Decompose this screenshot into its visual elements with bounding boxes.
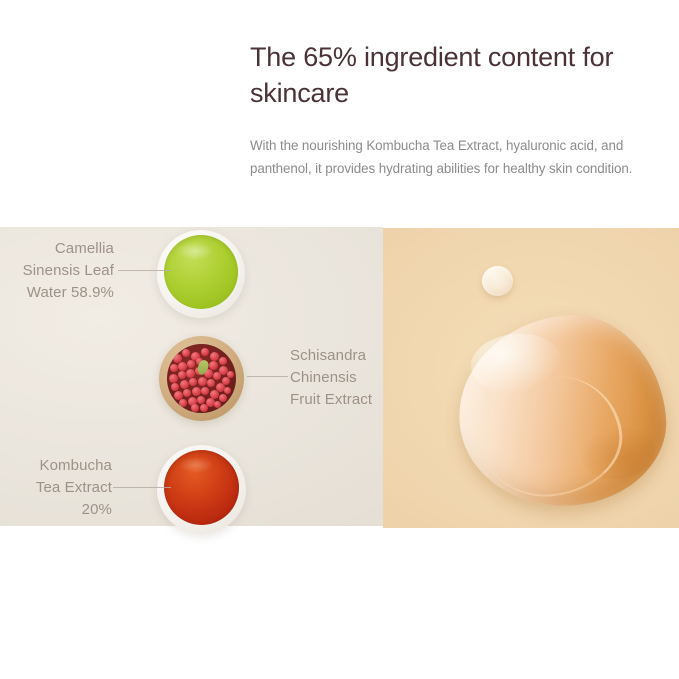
schisandra-berry-bed <box>167 344 236 413</box>
serum-blob-icon <box>451 307 673 514</box>
page-title: The 65% ingredient content for skincare <box>250 40 670 112</box>
ingredient-bowl-camellia <box>157 230 245 318</box>
ingredient-infographic: The 65% ingredient content for skincare … <box>0 0 679 679</box>
kombucha-sheen <box>179 457 213 473</box>
ingredient-bowl-schisandra <box>159 336 244 421</box>
page-description: With the nourishing Kombucha Tea Extract… <box>250 112 670 180</box>
leader-line-camellia <box>118 270 172 271</box>
ingredient-label-camellia: Camellia Sinensis Leaf Water 58.9% <box>0 238 114 304</box>
header-block: The 65% ingredient content for skincare … <box>250 40 670 180</box>
camellia-sheen <box>177 242 213 260</box>
serum-droplet-icon <box>482 266 513 296</box>
ingredient-label-kombucha: Kombucha Tea Extract 20% <box>0 455 112 521</box>
leader-line-kombucha <box>113 487 171 488</box>
ingredient-bowl-kombucha <box>157 445 246 534</box>
ingredient-label-schisandra: Schisandra Chinensis Fruit Extract <box>290 345 390 411</box>
leader-line-schisandra <box>247 376 288 377</box>
serum-swatch-panel <box>383 228 679 528</box>
